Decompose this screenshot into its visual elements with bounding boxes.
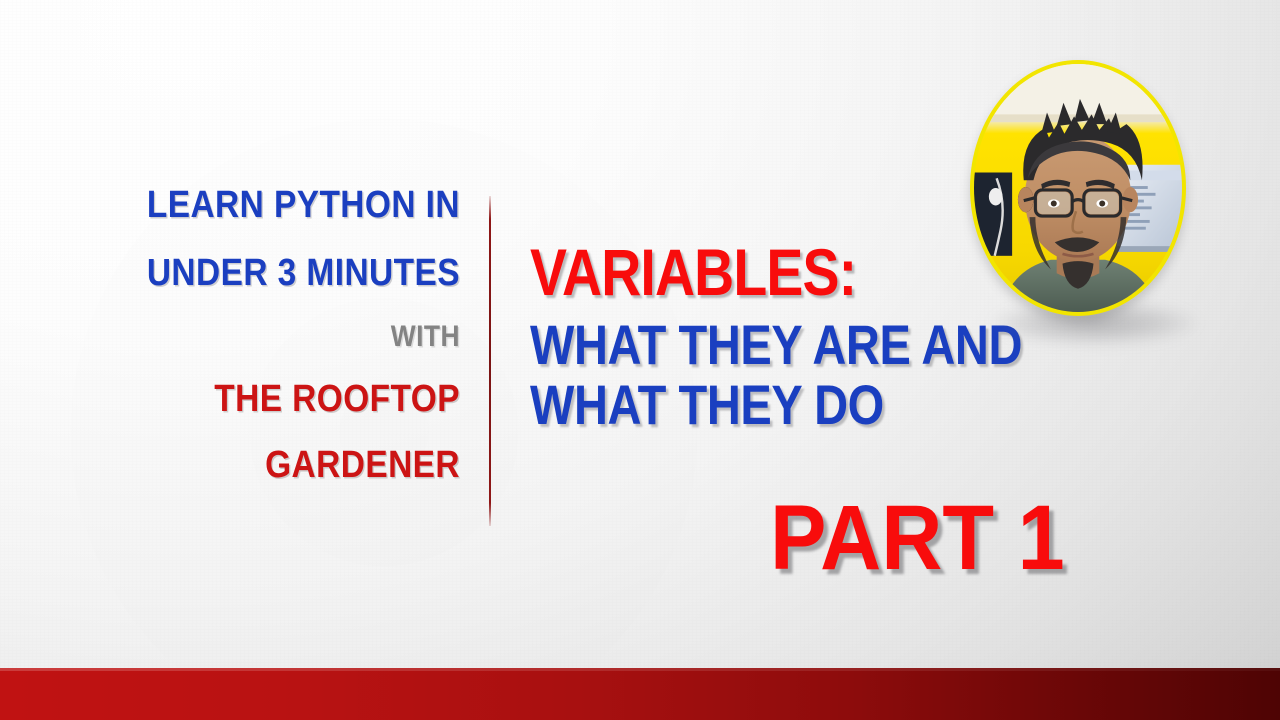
brand-name-line-1: THE ROOFTOP (108, 380, 460, 418)
topic-title: VARIABLES: (530, 240, 1034, 304)
series-heading-line-1: LEARN PYTHON IN (108, 186, 460, 224)
topic-subtitle-line-2: WHAT THEY DO (530, 378, 1034, 432)
avatar (970, 60, 1186, 316)
topic-subtitle-line-1: WHAT THEY ARE AND (530, 318, 1034, 372)
vertical-divider (489, 196, 491, 526)
bottom-bar-highlight (0, 668, 1280, 671)
brand-name-line-2: GARDENER (108, 446, 460, 484)
left-branding-panel: LEARN PYTHON IN UNDER 3 MINUTES WITH THE… (60, 186, 460, 484)
with-connector-label: WITH (108, 322, 460, 352)
title-slide: LEARN PYTHON IN UNDER 3 MINUTES WITH THE… (0, 0, 1280, 720)
presenter-photo-icon (974, 64, 1182, 312)
series-heading-line-2: UNDER 3 MINUTES (108, 254, 460, 292)
part-number-label: PART 1 (770, 492, 1065, 584)
bottom-accent-bar (0, 668, 1280, 720)
